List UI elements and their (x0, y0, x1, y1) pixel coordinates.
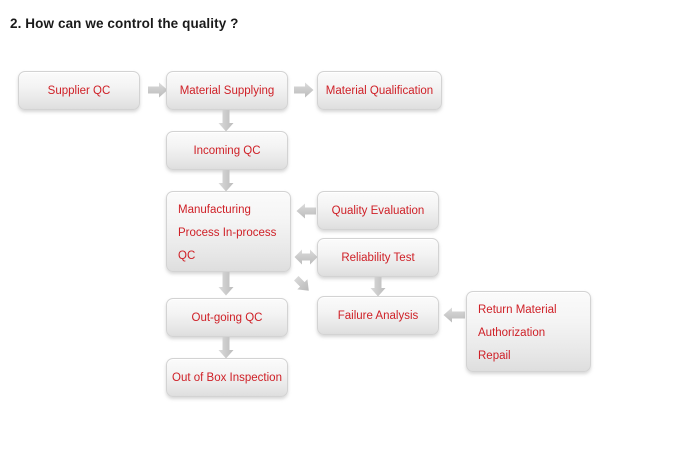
node-label: Failure Analysis (318, 309, 438, 323)
arrow-manufacturing-to-failure-analysis-diagonal (292, 274, 314, 296)
node-label-line-2: Process In-process (178, 222, 290, 245)
node-label-line-2: Authorization (478, 322, 590, 345)
arrow-manufacturing-to-out-going-qc (218, 272, 234, 296)
arrow-reliability-test-to-failure-analysis (370, 277, 386, 297)
node-label: Quality Evaluation (318, 204, 438, 218)
arrow-supplier-qc-to-material-supplying (148, 82, 168, 98)
arrow-return-material-authorization-to-failure-analysis (443, 307, 465, 323)
node-label-line-3: Repail (478, 345, 590, 368)
node-out-going-qc[interactable]: Out-going QC (166, 298, 288, 337)
node-out-of-box-inspection[interactable]: Out of Box Inspection (166, 358, 288, 397)
node-label: Supplier QC (19, 84, 139, 98)
node-label-line-3: QC (178, 245, 290, 268)
node-label: Material Supplying (167, 84, 287, 98)
node-label: Material Qualification (318, 84, 441, 98)
arrow-quality-evaluation-to-manufacturing (296, 203, 316, 219)
node-supplier-qc[interactable]: Supplier QC (18, 71, 140, 110)
arrow-material-supplying-to-incoming-qc (218, 110, 234, 132)
arrow-material-supplying-to-material-qualification (294, 82, 314, 98)
arrow-incoming-qc-to-manufacturing (218, 170, 234, 192)
node-incoming-qc[interactable]: Incoming QC (166, 131, 288, 170)
node-return-material-authorization-repail[interactable]: Return Material Authorization Repail (466, 291, 591, 372)
node-label: Incoming QC (167, 144, 287, 158)
node-material-qualification[interactable]: Material Qualification (317, 71, 442, 110)
node-quality-evaluation[interactable]: Quality Evaluation (317, 191, 439, 230)
node-label-line-1: Manufacturing (178, 199, 290, 222)
node-material-supplying[interactable]: Material Supplying (166, 71, 288, 110)
node-manufacturing-process-in-process-qc[interactable]: Manufacturing Process In-process QC (166, 191, 291, 272)
node-label: Out of Box Inspection (167, 371, 287, 385)
node-reliability-test[interactable]: Reliability Test (317, 238, 439, 277)
node-label: Reliability Test (318, 251, 438, 265)
flowchart-canvas: Supplier QC Material Supplying Material … (0, 0, 677, 455)
arrow-reliability-test-manufacturing-bidirectional (294, 249, 318, 265)
arrow-out-going-qc-to-out-of-box-inspection (218, 337, 234, 359)
node-failure-analysis[interactable]: Failure Analysis (317, 296, 439, 335)
node-label: Out-going QC (167, 311, 287, 325)
node-label-line-1: Return Material (478, 299, 590, 322)
